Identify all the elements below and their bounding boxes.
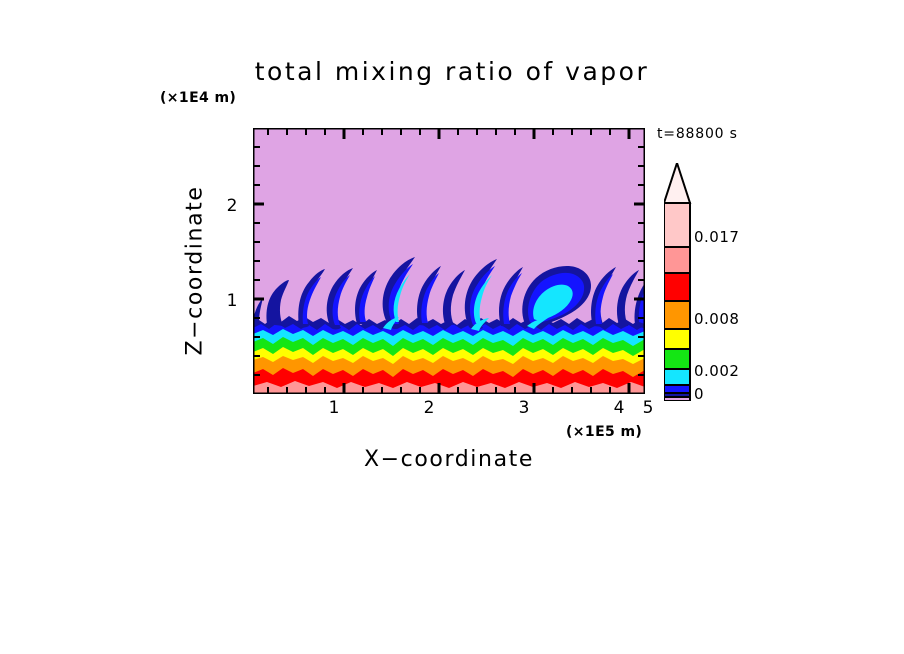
y-tick-label: 2 — [222, 196, 242, 216]
colorbar-band — [664, 273, 690, 301]
colorbar-extend-arrow — [664, 163, 690, 203]
colorbar-band — [664, 329, 690, 349]
time-annotation: t=88800 s — [657, 126, 738, 142]
y-axis-title: Z−coordinate — [183, 71, 208, 471]
colorbar-band — [664, 203, 690, 247]
x-axis-title: X−coordinate — [253, 447, 645, 472]
colorbar — [664, 163, 694, 401]
y-tick-label: 1 — [222, 291, 242, 311]
colorbar-band — [664, 385, 690, 393]
x-tick-label: 2 — [419, 398, 439, 418]
colorbar-band — [664, 349, 690, 369]
x-tick-label: 1 — [324, 398, 344, 418]
colorbar-band — [664, 369, 690, 385]
colorbar-band — [664, 247, 690, 273]
colorbar-band — [664, 301, 690, 329]
colorbar-tick-label: 0.017 — [694, 228, 739, 246]
x-tick-label: 5 — [638, 398, 658, 418]
contour-plot-area — [253, 128, 645, 394]
colorbar-tick-label: 0 — [694, 385, 704, 403]
figure-canvas: total mixing ratio of vapor (×1E4 m) t=8… — [0, 0, 904, 654]
x-tick-label: 4 — [609, 398, 629, 418]
colorbar-tick-label: 0.002 — [694, 362, 739, 380]
page-title: total mixing ratio of vapor — [0, 57, 904, 86]
colorbar-tick-label: 0.008 — [694, 310, 739, 328]
x-axis-unit-label: (×1E5 m) — [566, 424, 642, 440]
x-tick-label: 3 — [514, 398, 534, 418]
